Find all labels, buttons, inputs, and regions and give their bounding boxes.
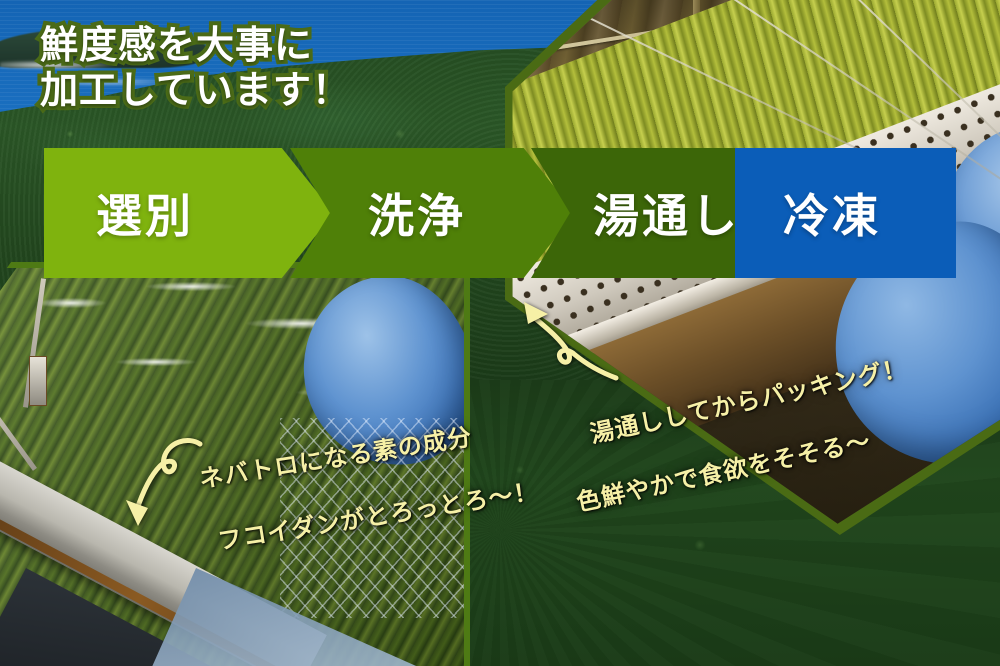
promo-banner: 鮮度感を大事に 加工しています！ 選別 洗浄 湯通し 冷凍 ネバトロになる素の成… [0,0,1000,666]
annotation-left-line2: フコイダンがとろっとろ〜！ [216,476,541,558]
water-highlight [146,282,236,291]
process-step-selection[interactable]: 選別 [44,148,334,278]
process-step-label: 湯通し [593,180,740,246]
process-step-label: 選別 [96,180,194,246]
process-step-label: 洗浄 [368,180,466,246]
process-step-washing[interactable]: 洗浄 [290,148,575,278]
process-step-freezing[interactable]: 冷凍 [735,148,956,278]
rope-secondary [0,395,37,471]
page-title: 鮮度感を大事に 加工しています！ [40,24,351,114]
water-highlight [36,298,106,308]
annotation-left-line1: ネバトロになる素の成分 [197,423,474,494]
process-step-label: 冷凍 [783,180,881,246]
water-highlight [116,358,196,366]
rope-clip [29,356,47,406]
process-flow: 選別 洗浄 湯通し 冷凍 [44,148,956,278]
